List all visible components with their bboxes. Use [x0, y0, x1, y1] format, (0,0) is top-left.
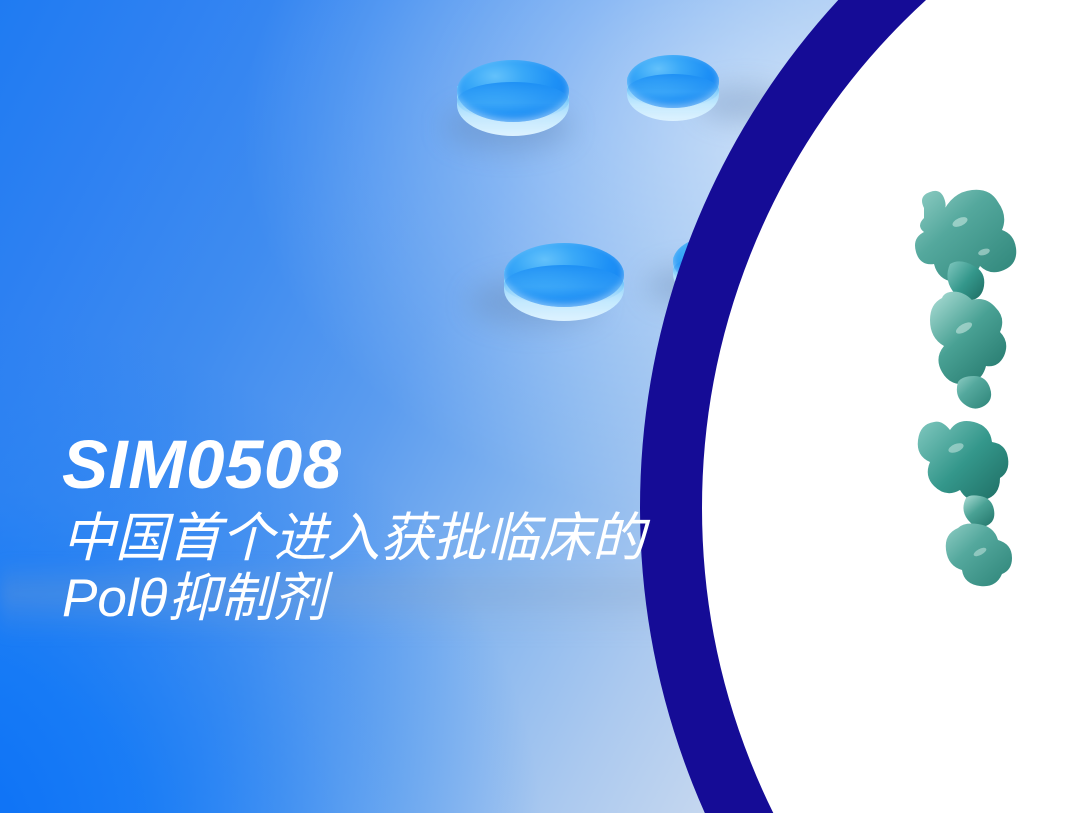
- poster-canvas: SIM0508 中国首个进入获批临床的 Polθ抑制剂: [0, 0, 1066, 813]
- headline-block: SIM0508 中国首个进入获批临床的 Polθ抑制剂: [62, 430, 882, 630]
- product-name-title: SIM0508: [62, 430, 882, 499]
- protein-structure-icon: [888, 160, 1058, 590]
- product-subtitle: 中国首个进入获批临床的 Polθ抑制剂: [62, 509, 882, 630]
